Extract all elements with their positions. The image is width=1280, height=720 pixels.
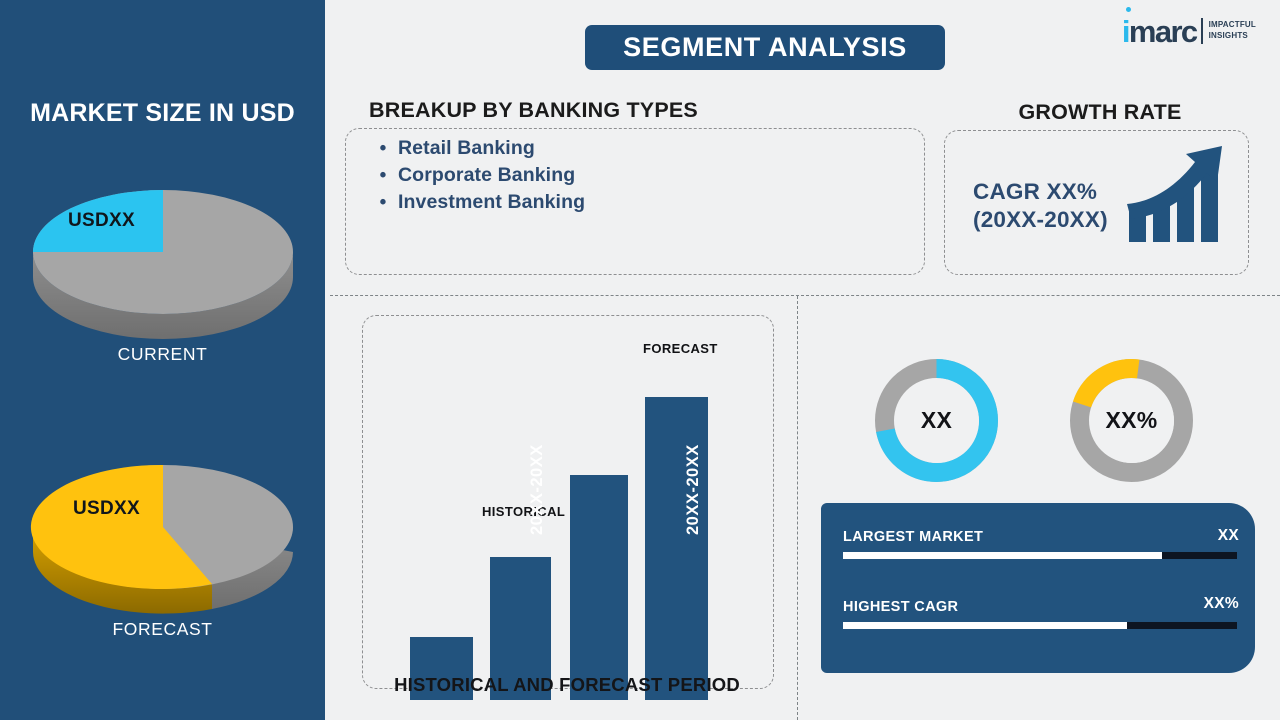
stats-panel: LARGEST MARKET XX HIGHEST CAGR XX%	[821, 503, 1255, 673]
stat-fill-largest-market	[843, 552, 1162, 559]
breakup-heading: BREAKUP BY BANKING TYPES	[369, 98, 698, 123]
logo-dot-icon	[1126, 7, 1131, 12]
highest-cagr-donut-label: XX%	[1090, 379, 1174, 463]
bullet-icon: •	[368, 165, 398, 186]
page-title: SEGMENT ANALYSIS	[585, 25, 945, 70]
logo-letters-marc: marc	[1129, 14, 1197, 49]
cagr-line-1: CAGR XX%	[973, 178, 1108, 206]
stat-label-highest-cagr: HIGHEST CAGR	[843, 599, 958, 615]
growth-rate-heading: GROWTH RATE	[945, 100, 1255, 125]
growth-arrow-bars-icon	[1125, 140, 1230, 250]
bar-2-inner-label: 20XX-20XX	[528, 444, 547, 535]
pie-current-graphic: USDXX	[0, 165, 325, 340]
pie-forecast-graphic: USDXX	[0, 440, 325, 615]
sidebar: MARKET SIZE IN USD	[0, 0, 325, 720]
stat-track-largest-market	[843, 552, 1237, 559]
logo-tagline: IMPACTFUL INSIGHTS	[1209, 20, 1256, 42]
largest-market-donut: XX	[874, 358, 999, 483]
breakup-list: • Retail Banking • Corporate Banking • I…	[368, 138, 585, 219]
highest-cagr-donut: XX%	[1069, 358, 1194, 483]
bar-chart: HISTORICAL 20XX-20XX FORECAST 20XX-20XX	[362, 315, 772, 700]
horizontal-divider	[330, 295, 1280, 296]
cagr-line-2: (20XX-20XX)	[973, 206, 1108, 234]
list-item: • Corporate Banking	[368, 165, 585, 186]
list-item: • Investment Banking	[368, 192, 585, 213]
logo-letter-i: i	[1122, 14, 1129, 49]
logo-wordmark: imarc	[1122, 16, 1197, 47]
list-item: • Retail Banking	[368, 138, 585, 159]
bar-4-inner-label: 20XX-20XX	[684, 444, 703, 535]
breakup-item-label: Investment Banking	[398, 192, 585, 213]
market-size-current-block: USDXX CURRENT	[0, 165, 325, 365]
bar-2-top-label: HISTORICAL	[482, 504, 565, 519]
infographic-root: MARKET SIZE IN USD	[0, 0, 1280, 720]
stat-fill-highest-cagr	[843, 622, 1127, 629]
stat-value-highest-cagr: XX%	[1204, 595, 1239, 613]
imarc-logo: imarc IMPACTFUL INSIGHTS	[1122, 12, 1256, 50]
logo-divider	[1201, 18, 1203, 44]
logo-tagline-line2: INSIGHTS	[1209, 31, 1256, 42]
vertical-divider	[797, 296, 798, 720]
cagr-text: CAGR XX% (20XX-20XX)	[973, 178, 1108, 234]
pie-forecast-svg	[0, 440, 325, 615]
bar-4-top-label: FORECAST	[643, 341, 718, 356]
breakup-item-label: Corporate Banking	[398, 165, 575, 186]
stat-label-largest-market: LARGEST MARKET	[843, 529, 983, 545]
market-size-forecast-block: USDXX FORECAST	[0, 440, 325, 640]
stat-value-largest-market: XX	[1218, 527, 1239, 545]
bullet-icon: •	[368, 138, 398, 159]
bar-4	[645, 397, 708, 700]
bullet-icon: •	[368, 192, 398, 213]
pie-current-caption: CURRENT	[0, 344, 325, 365]
bar-3	[570, 475, 628, 700]
pie-forecast-caption: FORECAST	[0, 619, 325, 640]
pie-current-svg	[0, 165, 325, 340]
sidebar-title: MARKET SIZE IN USD	[0, 99, 325, 128]
bar-chart-caption: HISTORICAL AND FORECAST PERIOD	[362, 674, 772, 696]
breakup-item-label: Retail Banking	[398, 138, 535, 159]
largest-market-donut-label: XX	[895, 379, 979, 463]
logo-tagline-line1: IMPACTFUL	[1209, 20, 1256, 31]
stat-track-highest-cagr	[843, 622, 1237, 629]
